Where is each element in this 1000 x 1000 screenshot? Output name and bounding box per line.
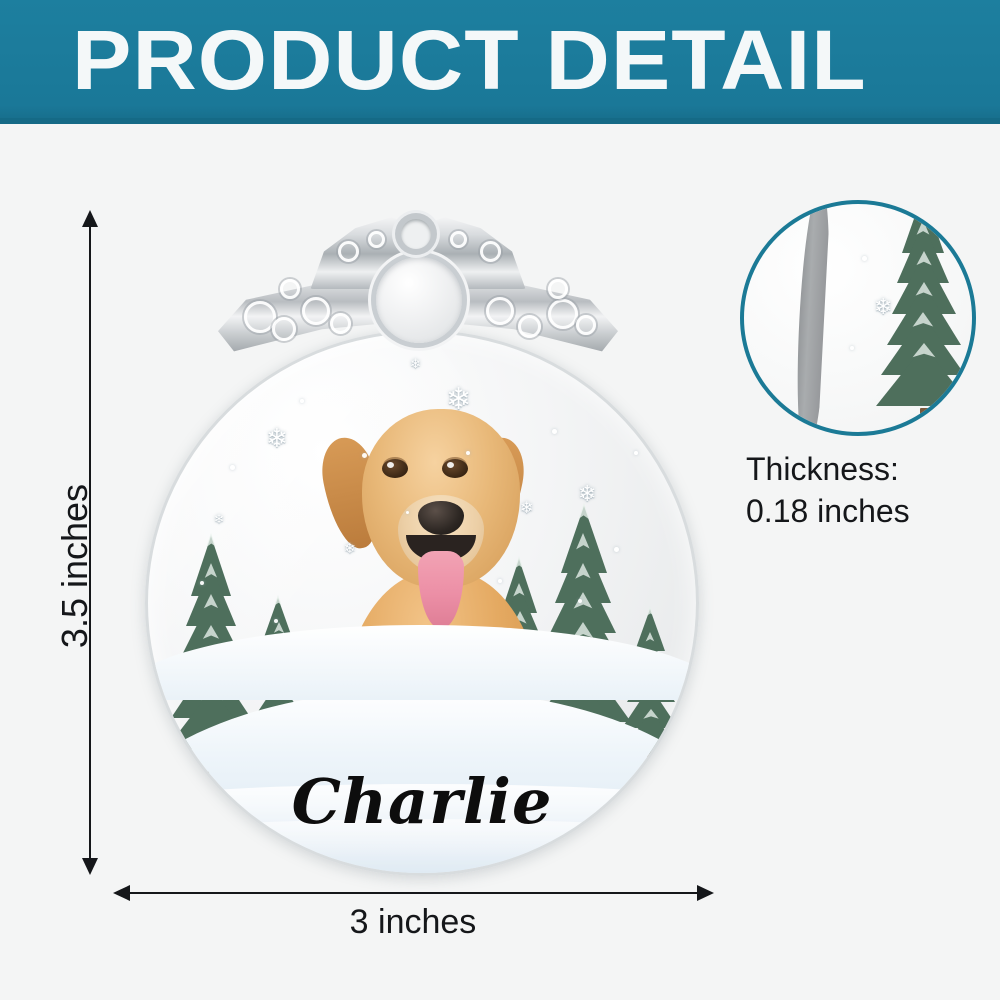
chrome-cap (218, 205, 618, 365)
cap-swirl (330, 313, 351, 334)
acrylic-disc: ❄❄❄❄❄❄❄ Charlie (145, 330, 699, 876)
thickness-label-line2: 0.18 inches (746, 490, 996, 532)
acrylic-edge-profile (789, 200, 831, 436)
page-header-banner: PRODUCT DETAIL (0, 0, 1000, 124)
cap-swirl (272, 317, 296, 341)
snowflake-icon: ❄ (266, 425, 288, 451)
cap-swirl (280, 279, 300, 299)
snow-dot (498, 579, 502, 583)
snow-dot (850, 346, 854, 350)
cap-swirl (548, 299, 578, 329)
snow-dot (230, 465, 235, 470)
thickness-magnifier: ❄ (740, 200, 976, 436)
cap-swirl (518, 315, 541, 338)
pet-name-text: Charlie (148, 765, 696, 838)
width-dimension-line (126, 892, 702, 894)
snowflake-icon: ❄ (214, 513, 224, 525)
snow-dot (362, 453, 367, 458)
snow-dot (466, 451, 470, 455)
snow-dot (634, 451, 638, 455)
thickness-label: Thickness: 0.18 inches (746, 448, 996, 532)
tree-trunk (920, 408, 929, 430)
snow-dot (274, 619, 278, 623)
cap-swirl (480, 241, 501, 262)
snowflake-icon: ❄ (578, 483, 596, 505)
cap-swirl (486, 297, 514, 325)
snow-dot (552, 429, 557, 434)
cap-swirl (548, 279, 568, 299)
snow-dot (300, 399, 304, 403)
page-title: PRODUCT DETAIL (72, 14, 867, 106)
dog-eye-glint (447, 462, 454, 468)
width-dimension-label: 3 inches (263, 903, 563, 942)
pine-tree (876, 222, 972, 422)
dog-eye (382, 459, 408, 478)
snow-dot (200, 581, 204, 585)
cap-swirl (576, 315, 596, 335)
snowflake-icon: ❄ (520, 501, 533, 517)
cap-swirl (450, 231, 467, 248)
snow-dot (578, 599, 582, 603)
cap-swirl (368, 231, 385, 248)
snow-dot (862, 256, 867, 261)
hanging-hole-icon (401, 219, 431, 249)
arrow-down-icon (82, 858, 98, 875)
ornament-product-image: ❄❄❄❄❄❄❄ Charlie (145, 330, 693, 870)
product-detail-page: PRODUCT DETAIL 3.5 inches 3 inches (0, 0, 1000, 1000)
snowflake-icon: ❄ (344, 541, 356, 555)
height-dimension-label: 3.5 inches (54, 446, 96, 686)
arrow-right-icon (697, 885, 714, 901)
cap-swirl (338, 241, 359, 262)
cap-swirl (302, 297, 330, 325)
snow-dot (406, 511, 409, 514)
snowflake-icon: ❄ (446, 385, 471, 415)
dog-eye-glint (387, 462, 394, 468)
thickness-label-line1: Thickness: (746, 448, 996, 490)
snow-dot (614, 547, 619, 552)
banner-underline (0, 118, 1000, 124)
cap-medallion (376, 257, 462, 343)
dog-eye (442, 459, 468, 478)
